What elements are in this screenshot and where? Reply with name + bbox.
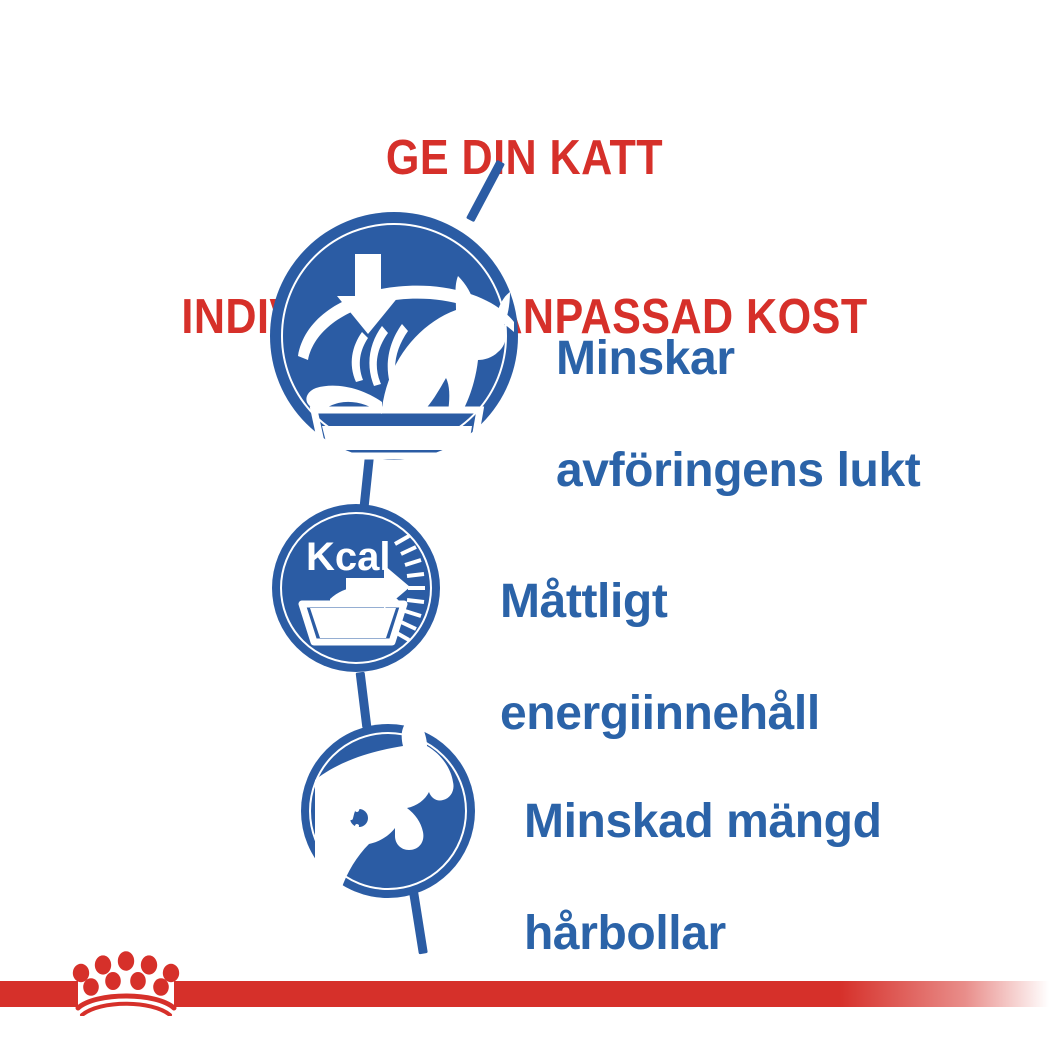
cat-hairball-digestion-icon (301, 724, 475, 898)
feature-row-3: Minskad mängd hårbollar (0, 0, 1049, 1049)
poster-root: GE DIN KATT INDIVIDUELLT ANPASSAD KOST (0, 0, 1049, 1049)
feature-label-3: Minskad mängd hårbollar (524, 738, 1034, 962)
feature-label-3-line-1: Minskad mängd (524, 795, 882, 848)
royal-canin-crown-logo (62, 944, 190, 1016)
feature-label-3-line-2: hårbollar (524, 907, 726, 960)
